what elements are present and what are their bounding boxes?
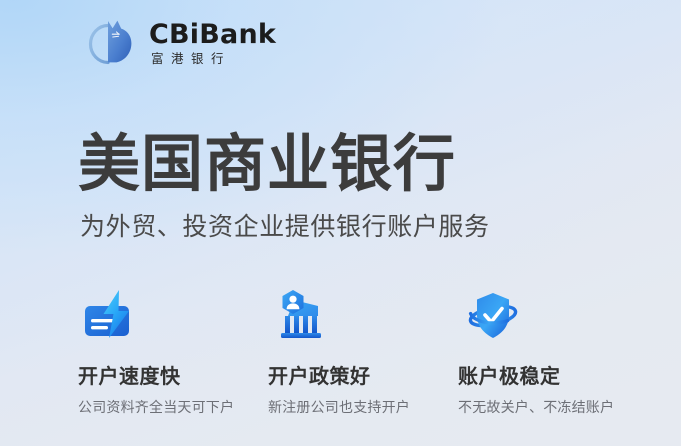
cbibank-cat-logo-icon	[84, 16, 140, 68]
feature-item-policy[interactable]: 开户政策好 新注册公司也支持开户	[268, 288, 458, 417]
feature-item-speed[interactable]: 开户速度快 公司资料齐全当天可下户	[78, 288, 268, 417]
bank-building-person-icon	[272, 288, 334, 346]
feature-description: 公司资料齐全当天可下户	[78, 397, 268, 417]
promo-banner: CBiBank 富港银行 美国商业银行 为外贸、投资企业提供银行账户服务	[0, 0, 681, 446]
feature-list: 开户速度快 公司资料齐全当天可下户	[78, 288, 648, 417]
hero-title: 美国商业银行	[78, 128, 618, 202]
feature-title: 账户极稳定	[458, 364, 648, 390]
speed-card-lightning-icon	[82, 288, 144, 346]
feature-description: 不无故关户、不冻结账户	[458, 397, 648, 417]
feature-item-stability[interactable]: 账户极稳定 不无故关户、不冻结账户	[458, 288, 648, 417]
brand-chinese-name: 富港银行	[149, 51, 276, 67]
feature-title: 开户政策好	[268, 364, 458, 390]
hero-subtitle: 为外贸、投资企业提供银行账户服务	[80, 210, 618, 244]
feature-description: 新注册公司也支持开户	[268, 397, 458, 417]
shield-check-orbit-icon	[462, 288, 524, 346]
brand-latin-name: CBiBank	[149, 20, 276, 49]
feature-title: 开户速度快	[78, 364, 268, 390]
brand-logo[interactable]: CBiBank 富港银行	[84, 16, 276, 68]
hero-section: 美国商业银行 为外贸、投资企业提供银行账户服务	[78, 128, 618, 244]
brand-wordmark: CBiBank 富港银行	[149, 18, 276, 67]
